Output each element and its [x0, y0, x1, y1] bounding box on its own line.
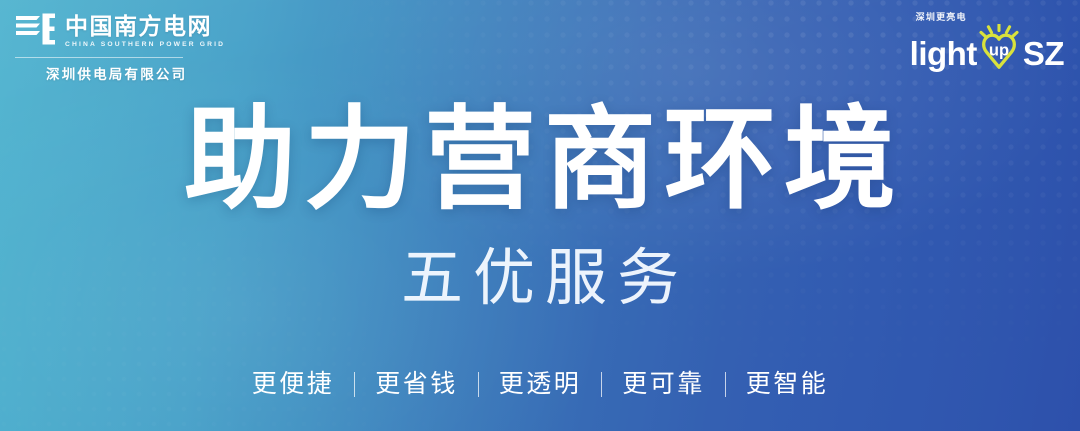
- lightup-word-sz: SZ: [1023, 37, 1064, 70]
- banner-headline: 助力营商环境: [0, 104, 1080, 216]
- lightup-tagline: 深圳更亮电: [916, 10, 967, 23]
- promo-banner: 中国南方电网 CHINA SOUTHERN POWER GRID 深圳供电局有限…: [0, 0, 1080, 431]
- feature-item-4: 更智能: [726, 372, 849, 397]
- csg-company-name-cn: 中国南方电网: [65, 15, 212, 38]
- csg-logo-row: 中国南方电网 CHINA SOUTHERN POWER GRID: [14, 12, 222, 51]
- feature-item-1: 更省钱: [355, 372, 478, 397]
- lightup-sz-logo: 深圳更亮电 light up SZ: [910, 10, 1064, 79]
- csg-wordmark: 中国南方电网 CHINA SOUTHERN POWER GRID: [65, 15, 222, 47]
- feature-item-0: 更便捷: [232, 372, 355, 397]
- lightup-word-light: light: [910, 37, 977, 70]
- heart-up-label: up: [989, 42, 1009, 60]
- csg-divider-rule: [15, 57, 183, 58]
- lightup-wordmark-row: light up SZ: [910, 24, 1064, 79]
- feature-item-2: 更透明: [479, 372, 602, 397]
- csg-logo: 中国南方电网 CHINA SOUTHERN POWER GRID 深圳供电局有限…: [14, 12, 222, 83]
- heart-up-icon: up: [974, 24, 1024, 79]
- banner-subheadline: 五优服务: [0, 248, 1080, 310]
- feature-item-3: 更可靠: [602, 372, 725, 397]
- csg-subsidiary-name: 深圳供电局有限公司: [46, 63, 187, 83]
- csg-grid-mark-icon: [14, 12, 56, 51]
- csg-company-name-en: CHINA SOUTHERN POWER GRID: [65, 41, 225, 48]
- feature-list: 更便捷 更省钱 更透明 更可靠 更智能: [0, 372, 1080, 397]
